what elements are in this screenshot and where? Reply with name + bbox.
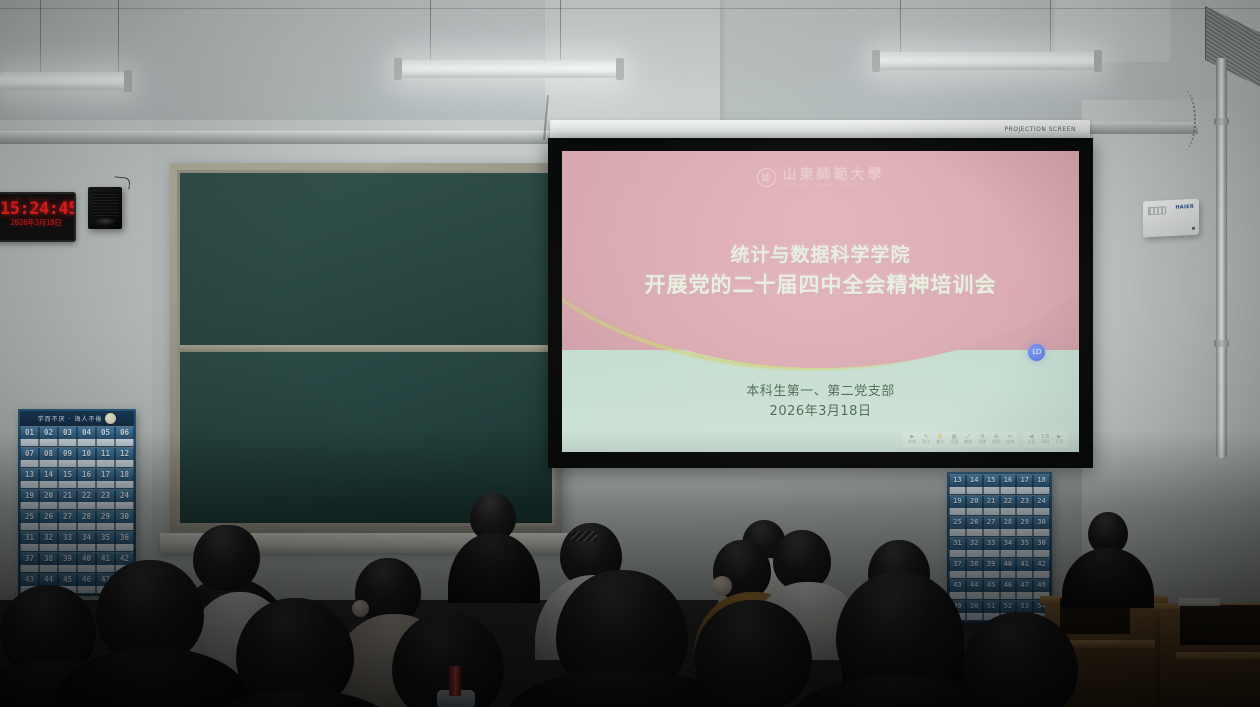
- speaker-bracket: [113, 176, 130, 190]
- pocket-slot: 15: [983, 474, 1000, 495]
- pocket-slot: 24: [115, 489, 134, 510]
- pocket-slot-number: 32: [44, 533, 53, 542]
- light-wire-1: [40, 0, 41, 74]
- housing-label: PROJECTION SCREEN: [1004, 126, 1076, 133]
- pocket-slot: 13: [20, 468, 39, 489]
- pocket-slot-number: 20: [44, 491, 53, 500]
- pocket-slot-number: 44: [970, 581, 978, 589]
- pocket-slot: 45: [983, 579, 1000, 600]
- light-wire-4: [560, 0, 561, 62]
- pocket-slot: 20: [966, 495, 983, 516]
- pocket-slot-number: 31: [953, 539, 961, 547]
- presentation-toolbar-button[interactable]: 1/6页码: [1039, 433, 1051, 446]
- head: [193, 525, 259, 591]
- water-bottle: [449, 666, 461, 696]
- hair-tie: [352, 600, 369, 617]
- toolbar-button-label: 页面: [950, 440, 958, 445]
- pocket-slot-number: 40: [82, 554, 91, 563]
- pocket-slot-number: 28: [82, 512, 91, 521]
- head: [694, 600, 812, 707]
- light-wire-3: [430, 0, 431, 62]
- pocket-slot-number: 29: [101, 512, 110, 521]
- light-cap: [872, 50, 880, 72]
- pocket-slot: 23: [1016, 495, 1033, 516]
- pocket-slot: 34: [1000, 537, 1017, 558]
- pocket-slot: 25: [20, 510, 39, 531]
- pocket-slot-number: 21: [63, 491, 72, 500]
- pocket-slot-number: 08: [44, 449, 53, 458]
- light-wire-6: [1050, 0, 1051, 54]
- pocket-slot: 14: [39, 468, 58, 489]
- pocket-slot: 01: [20, 426, 39, 447]
- pocket-slot-number: 16: [82, 470, 91, 479]
- pipe-joint-upper: [1214, 118, 1229, 125]
- presentation-slide[interactable]: 師 山東師範大學 SHANDONG NORMAL UNIVERSITY 统计与数…: [562, 151, 1079, 452]
- university-name-cn: 山東師範大學: [783, 168, 885, 183]
- pocket-slot: 35: [96, 531, 115, 552]
- pocket-chart-header-left: 学而不厌 · 诲人不倦: [20, 411, 134, 426]
- pocket-slot: 12: [115, 447, 134, 468]
- pocket-slot: 30: [115, 510, 134, 531]
- pocket-slot-number: 38: [970, 560, 978, 568]
- pocket-slot-number: 20: [970, 497, 978, 505]
- presentation-toolbar-button[interactable]: ⊞视图: [990, 433, 1002, 446]
- pocket-slot: 39: [58, 552, 77, 573]
- desk-shelf-2: [1176, 652, 1260, 660]
- slide-subtitle-block: 本科生第一、第二党支部 2026年3月18日: [562, 382, 1079, 422]
- pocket-slot: 21: [983, 495, 1000, 516]
- presentation-toolbar-button[interactable]: ⤢缩放: [962, 433, 974, 446]
- pocket-slot-number: 36: [120, 533, 129, 542]
- blackboard-divider: [180, 345, 552, 352]
- pocket-slot-number: 52: [1004, 602, 1012, 610]
- pocket-slot-number: 18: [120, 470, 129, 479]
- desk-back-panel-2: [1180, 605, 1260, 645]
- pocket-slot: 34: [77, 531, 96, 552]
- pocket-slot-number: 36: [1037, 539, 1045, 547]
- presentation-toolbar-button[interactable]: ▶放映: [906, 433, 918, 446]
- pocket-slot: 50: [966, 600, 983, 621]
- pocket-slot: 30: [1033, 516, 1050, 537]
- light-cap: [616, 58, 624, 80]
- pocket-slot: 28: [77, 510, 96, 531]
- pocket-slot-number: 31: [25, 533, 34, 542]
- pocket-slot-number: 25: [953, 518, 961, 526]
- pocket-slot-number: 16: [1004, 476, 1012, 484]
- pocket-slot-number: 05: [101, 428, 110, 437]
- pocket-slot-number: 42: [120, 554, 129, 563]
- pocket-slot: 11: [96, 447, 115, 468]
- pocket-chart-motto-left: 学而不厌 · 诲人不倦: [38, 414, 103, 423]
- presentation-toolbar-button[interactable]: ↩结束: [1004, 433, 1016, 446]
- pocket-slot-number: 26: [44, 512, 53, 521]
- toolbar-button-label: 结束: [1006, 440, 1014, 445]
- pocket-slot-number: 43: [25, 575, 34, 584]
- pocket-slot-number: 23: [101, 491, 110, 500]
- presentation-toolbar[interactable]: ▶放映✎批注✋激光▦页面⤢缩放⚙设置⊞视图↩结束 ◀上页1/6页码▶下页: [903, 431, 1068, 448]
- wall-control-unit[interactable]: HAIER: [1143, 199, 1199, 238]
- pocket-slot-number: 40: [1004, 560, 1012, 568]
- presentation-toolbar-button[interactable]: ⚙设置: [976, 433, 988, 446]
- speaker-driver: [95, 218, 115, 225]
- pocket-slot: 22: [1000, 495, 1017, 516]
- projection-screen: 師 山東師範大學 SHANDONG NORMAL UNIVERSITY 统计与数…: [548, 138, 1093, 468]
- light-cap: [394, 58, 402, 80]
- pocket-slot-number: 45: [987, 581, 995, 589]
- pocket-slot: 41: [96, 552, 115, 573]
- blackboard-panel-upper: [180, 173, 552, 345]
- university-logo: 師 山東師範大學 SHANDONG NORMAL UNIVERSITY: [562, 168, 1079, 187]
- head: [773, 530, 831, 590]
- pocket-slot-number: 27: [63, 512, 72, 521]
- pocket-slot-number: 15: [987, 476, 995, 484]
- pocket-slot-number: 12: [120, 449, 129, 458]
- pocket-slot: 29: [1016, 516, 1033, 537]
- pocket-slot-number: 19: [25, 491, 34, 500]
- slide-subtitle-line-1: 本科生第一、第二党支部: [562, 382, 1079, 402]
- pocket-slot: 27: [58, 510, 77, 531]
- slide-subtitle-line-2: 2026年3月18日: [562, 402, 1079, 422]
- pocket-slot-number: 37: [953, 560, 961, 568]
- pipe-joint-lower: [1214, 340, 1229, 347]
- blackboard: [170, 163, 562, 533]
- pocket-slot: 21: [58, 489, 77, 510]
- pocket-slot: 17: [1016, 474, 1033, 495]
- pocket-slot: 10: [77, 447, 96, 468]
- speaker-grille: [92, 192, 118, 216]
- pocket-slot: 20: [39, 489, 58, 510]
- paper-sheet-2: [1178, 598, 1220, 606]
- pocket-slot-number: 48: [1037, 581, 1045, 589]
- pocket-slot-number: 03: [63, 428, 72, 437]
- classroom-scene: DIGITAL CLOCK 15:24:45 2026年3月18日 HAIER …: [0, 0, 1260, 707]
- ceiling-light-1: [0, 72, 128, 90]
- pocket-slot-number: 28: [1004, 518, 1012, 526]
- pocket-slot-number: 14: [970, 476, 978, 484]
- moon-emblem-icon: [105, 413, 116, 424]
- pocket-slot: 28: [1000, 516, 1017, 537]
- pocket-slot: 35: [1016, 537, 1033, 558]
- pocket-slot: 18: [1033, 474, 1050, 495]
- pocket-slot-number: 24: [120, 491, 129, 500]
- presentation-toolbar-button[interactable]: ◀上页: [1025, 433, 1037, 446]
- pocket-slot-number: 22: [82, 491, 91, 500]
- pocket-slot-number: 47: [1021, 581, 1029, 589]
- pocket-slot: 09: [58, 447, 77, 468]
- pocket-slot: 07: [20, 447, 39, 468]
- pocket-slot: 13: [949, 474, 966, 495]
- pocket-slot: 46: [1000, 579, 1017, 600]
- pocket-slot: 15: [58, 468, 77, 489]
- pocket-slot-number: 17: [1021, 476, 1029, 484]
- slide-corner-badge-icon[interactable]: LO: [1028, 344, 1045, 361]
- pocket-slot-number: 41: [101, 554, 110, 563]
- pocket-slot: 17: [96, 468, 115, 489]
- pocket-slot: 32: [966, 537, 983, 558]
- pocket-slot-number: 41: [1021, 560, 1029, 568]
- pocket-slot: 22: [77, 489, 96, 510]
- pocket-chart-grid-right: 1314151617181920212223242526272829303132…: [949, 474, 1050, 621]
- pocket-slot-number: 42: [1037, 560, 1045, 568]
- pocket-slot-number: 10: [82, 449, 91, 458]
- pocket-slot-number: 29: [1021, 518, 1029, 526]
- pocket-chart-grid-left: 0102030405060708091011121314151617181920…: [20, 426, 134, 594]
- pocket-slot-number: 39: [63, 554, 72, 563]
- control-unit-led-icon: [1192, 227, 1195, 230]
- pocket-slot: 16: [77, 468, 96, 489]
- pocket-slot: 31: [949, 537, 966, 558]
- pocket-slot-number: 23: [1021, 497, 1029, 505]
- pocket-slot: 14: [966, 474, 983, 495]
- pocket-slot-number: 15: [63, 470, 72, 479]
- pocket-slot: 03: [58, 426, 77, 447]
- light-cap: [1094, 50, 1102, 72]
- control-unit-brand: HAIER: [1175, 204, 1194, 211]
- pocket-slot-number: 06: [120, 428, 129, 437]
- pocket-slot-number: 18: [1037, 476, 1045, 484]
- phone-pocket-chart-right: 1314151617181920212223242526272829303132…: [947, 472, 1052, 623]
- pocket-slot: 32: [39, 531, 58, 552]
- pocket-slot-number: 13: [25, 470, 34, 479]
- toolbar-button-label: 上页: [1027, 440, 1035, 445]
- toolbar-button-label: 视图: [992, 440, 1000, 445]
- ceiling-light-3: [876, 52, 1098, 70]
- pocket-slot-number: 07: [25, 449, 34, 458]
- pocket-slot: 27: [983, 516, 1000, 537]
- pocket-slot-number: 53: [1021, 602, 1029, 610]
- pocket-slot: 40: [1000, 558, 1017, 579]
- pocket-slot: 33: [58, 531, 77, 552]
- pocket-slot: 26: [966, 516, 983, 537]
- pocket-slot-number: 14: [44, 470, 53, 479]
- pocket-slot-number: 30: [1037, 518, 1045, 526]
- pocket-slot-number: 35: [101, 533, 110, 542]
- light-wire-5: [900, 0, 901, 54]
- wall-speaker: [88, 187, 122, 229]
- pocket-slot-number: 38: [44, 554, 53, 563]
- pocket-slot: 31: [20, 531, 39, 552]
- pocket-slot-number: 45: [63, 575, 72, 584]
- pocket-slot: 44: [966, 579, 983, 600]
- pocket-slot: 41: [1016, 558, 1033, 579]
- pocket-slot: 08: [39, 447, 58, 468]
- pocket-slot-number: 37: [25, 554, 34, 563]
- slide-title-block: 统计与数据科学学院 开展党的二十届四中全会精神培训会: [562, 241, 1079, 301]
- blackboard-surface: [177, 170, 555, 526]
- pocket-slot-number: 46: [1004, 581, 1012, 589]
- pocket-slot-number: 01: [25, 428, 34, 437]
- pocket-slot: 38: [39, 552, 58, 573]
- pocket-slot: 36: [1033, 537, 1050, 558]
- light-cap: [124, 70, 132, 92]
- toolbar-button-label: 批注: [922, 440, 930, 445]
- presentation-toolbar-main-group[interactable]: ▶放映✎批注✋激光▦页面⤢缩放⚙设置⊞视图↩结束: [903, 431, 1019, 448]
- presentation-toolbar-button[interactable]: ▶下页: [1053, 433, 1065, 446]
- projector-screen-housing: PROJECTION SCREEN: [550, 120, 1090, 140]
- pocket-slot-number: 34: [82, 533, 91, 542]
- presentation-toolbar-button[interactable]: ✋激光: [934, 433, 946, 446]
- pocket-slot: 33: [983, 537, 1000, 558]
- pocket-slot: 37: [20, 552, 39, 573]
- pocket-slot: 29: [96, 510, 115, 531]
- toolbar-button-label: 下页: [1055, 440, 1063, 445]
- pocket-slot-number: 33: [63, 533, 72, 542]
- pocket-slot-number: 43: [953, 581, 961, 589]
- hair-tie: [712, 576, 732, 596]
- presentation-toolbar-button[interactable]: ✎批注: [920, 433, 932, 446]
- pocket-slot-number: 09: [63, 449, 72, 458]
- pocket-slot: 24: [1033, 495, 1050, 516]
- clock-time-display: 15:24:45: [0, 201, 72, 219]
- pocket-slot-number: 11: [101, 449, 110, 458]
- phone-pocket-chart-left: 学而不厌 · 诲人不倦 0102030405060708091011121314…: [18, 409, 136, 596]
- university-name-en: SHANDONG NORMAL UNIVERSITY: [783, 183, 877, 187]
- pocket-slot: 26: [39, 510, 58, 531]
- pocket-slot: 47: [1016, 579, 1033, 600]
- toolbar-button-label: 放映: [908, 440, 916, 445]
- pocket-slot-number: 35: [1021, 539, 1029, 547]
- pocket-slot: 05: [96, 426, 115, 447]
- pocket-slot: 19: [20, 489, 39, 510]
- ceiling-light-2: [398, 60, 620, 78]
- pocket-slot-number: 39: [987, 560, 995, 568]
- pocket-slot: 36: [115, 531, 134, 552]
- pocket-slot: 02: [39, 426, 58, 447]
- pocket-slot-number: 51: [987, 602, 995, 610]
- pocket-slot-number: 44: [44, 575, 53, 584]
- pocket-slot-number: 21: [987, 497, 995, 505]
- pocket-slot-number: 25: [25, 512, 34, 521]
- pocket-slot: 43: [949, 579, 966, 600]
- pocket-slot-number: 30: [120, 512, 129, 521]
- control-unit-vent-icon: [1148, 206, 1166, 215]
- slide-title-line-1: 统计与数据科学学院: [562, 241, 1079, 270]
- pocket-slot-number: 34: [1004, 539, 1012, 547]
- toolbar-button-label: 页码: [1041, 440, 1049, 445]
- pocket-slot-number: 13: [953, 476, 961, 484]
- pocket-slot: 38: [966, 558, 983, 579]
- pocket-slot: 39: [983, 558, 1000, 579]
- pocket-slot-number: 32: [970, 539, 978, 547]
- pocket-slot: 19: [949, 495, 966, 516]
- presentation-toolbar-nav-group[interactable]: ◀上页1/6页码▶下页: [1022, 431, 1068, 448]
- pocket-slot: 04: [77, 426, 96, 447]
- pocket-slot: 18: [115, 468, 134, 489]
- pocket-slot: 37: [949, 558, 966, 579]
- hair-clip: [571, 531, 597, 541]
- pocket-slot-number: 26: [970, 518, 978, 526]
- university-name-block: 山東師範大學 SHANDONG NORMAL UNIVERSITY: [783, 168, 885, 187]
- pocket-slot: 46: [77, 573, 96, 594]
- pocket-slot: 06: [115, 426, 134, 447]
- pocket-slot: 16: [1000, 474, 1017, 495]
- pocket-slot: 23: [96, 489, 115, 510]
- pocket-slot-number: 50: [970, 602, 978, 610]
- pocket-slot-number: 46: [82, 575, 91, 584]
- pocket-slot: 40: [77, 552, 96, 573]
- pocket-slot-number: 33: [987, 539, 995, 547]
- pocket-slot-number: 17: [101, 470, 110, 479]
- wall-conduit-left: [0, 131, 560, 144]
- presentation-toolbar-button[interactable]: ▦页面: [948, 433, 960, 446]
- light-wire-2: [118, 0, 119, 74]
- pocket-slot-number: 27: [987, 518, 995, 526]
- pocket-slot-number: 02: [44, 428, 53, 437]
- university-seal-icon: 師: [757, 168, 776, 187]
- ceiling-seam-top: [0, 8, 1260, 9]
- pocket-slot-number: 19: [953, 497, 961, 505]
- pocket-slot-number: 24: [1037, 497, 1045, 505]
- pocket-slot-number: 22: [1004, 497, 1012, 505]
- toolbar-button-label: 设置: [978, 440, 986, 445]
- digital-wall-clock: DIGITAL CLOCK 15:24:45 2026年3月18日: [0, 192, 76, 242]
- pocket-slot: 25: [949, 516, 966, 537]
- pocket-slot-number: 04: [82, 428, 91, 437]
- clock-date-display: 2026年3月18日: [0, 219, 72, 227]
- toolbar-button-label: 缩放: [964, 440, 972, 445]
- pocket-slot: 42: [1033, 558, 1050, 579]
- slide-title-line-2: 开展党的二十届四中全会精神培训会: [562, 270, 1079, 302]
- toolbar-button-label: 激光: [936, 440, 944, 445]
